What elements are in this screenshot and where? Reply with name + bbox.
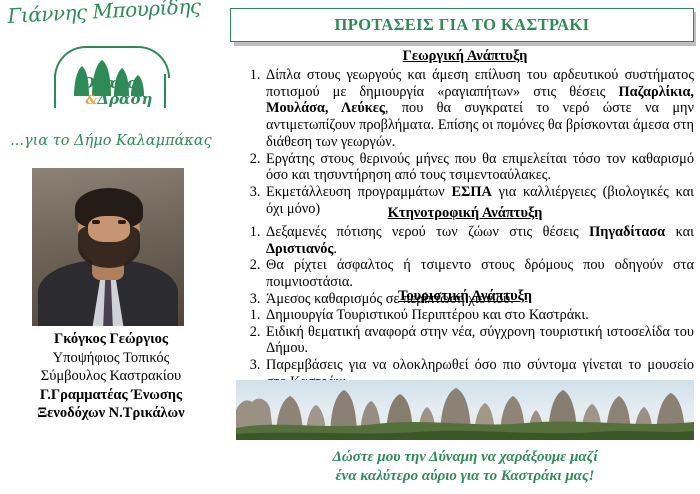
candidate-portrait-photo bbox=[32, 168, 184, 326]
list-item: Δεξαμενές πότισης νερού των ζώων στις θέ… bbox=[264, 224, 694, 257]
candidate-role-line-2: Σύμβουλος Καστρακίου bbox=[4, 367, 218, 386]
footer-line-1: Δώστε μου την Δύναμη να χαράξουμε μαζί bbox=[236, 448, 694, 467]
footer-line-2: ένα καλύτερο αύριο για το Καστράκι μας! bbox=[236, 467, 694, 486]
list-item: Ειδική θεματική αναφορά στην νέα, σύγχρο… bbox=[264, 324, 694, 357]
page-title: ΠΡΟΤΑΣΕΙΣ ΓΙΑ ΤΟ ΚΑΣΤΡΑΚΙ bbox=[230, 8, 694, 42]
candidate-role-line-1: Υποψήφιος Τοπικός bbox=[4, 349, 218, 368]
candidate-name: Γκόγκος Γεώργιος bbox=[4, 330, 218, 349]
logo-line-2: &Δράση bbox=[50, 92, 170, 108]
section-list: Δίπλα στους γεωργούς και άμεση επίλυση τ… bbox=[236, 67, 694, 217]
campaign-logo: Όραμα &Δράση bbox=[50, 46, 170, 124]
left-column: Γιάννης Μπουρίδης Όραμα &Δράση ...για το… bbox=[0, 0, 222, 494]
photo-rock-formations bbox=[236, 380, 694, 440]
list-item: Δημιουργία Τουριστικού Περιπτέρου και στ… bbox=[264, 307, 694, 324]
candidate-role-line-3: Γ.Γραμματέας Ένωσης bbox=[4, 386, 218, 405]
portrait-eye-right bbox=[118, 220, 126, 224]
page-title-text: ΠΡΟΤΑΣΕΙΣ ΓΙΑ ΤΟ ΚΑΣΤΡΑΚΙ bbox=[335, 15, 590, 35]
section-heading: Τουριστική Ανάπτυξη bbox=[236, 288, 694, 305]
poster-page: Γιάννης Μπουρίδης Όραμα &Δράση ...για το… bbox=[0, 0, 700, 494]
handwritten-signature: Γιάννης Μπουρίδης bbox=[7, 0, 219, 46]
list-item: Εργάτης στους θερινούς μήνες που θα επιμ… bbox=[264, 151, 694, 184]
section-heading: Γεωργική Ανάπτυξη bbox=[236, 48, 694, 65]
meteora-landscape-photo bbox=[236, 380, 694, 440]
title-shadow-bottom bbox=[234, 42, 696, 46]
logo-ampersand: & bbox=[86, 93, 98, 108]
list-item: Θα ρίχτει άσφαλτος ή τσιμεντο στους δρόμ… bbox=[264, 257, 694, 290]
section-heading: Κτηνοτροφική Ανάπτυξη bbox=[236, 205, 694, 222]
list-item: Δίπλα στους γεωργούς και άμεση επίλυση τ… bbox=[264, 67, 694, 151]
portrait-eye-left bbox=[92, 220, 100, 224]
logo-wordmark: Όραμα &Δράση bbox=[50, 76, 170, 108]
campaign-slogan: ...για το Δήμο Καλαμπάκας bbox=[6, 133, 216, 149]
candidate-role-line-4: Ξενοδόχων Ν.Τρικάλων bbox=[4, 404, 218, 423]
footer-slogan: Δώστε μου την Δύναμη να χαράξουμε μαζί έ… bbox=[236, 448, 694, 486]
logo-line-2-text: Δράση bbox=[97, 90, 152, 108]
candidate-caption: Γκόγκος Γεώργιος Υποψήφιος Τοπικός Σύμβο… bbox=[4, 330, 218, 423]
section-georgiki: Γεωργική Ανάπτυξη Δίπλα στους γεωργούς κ… bbox=[236, 48, 694, 217]
